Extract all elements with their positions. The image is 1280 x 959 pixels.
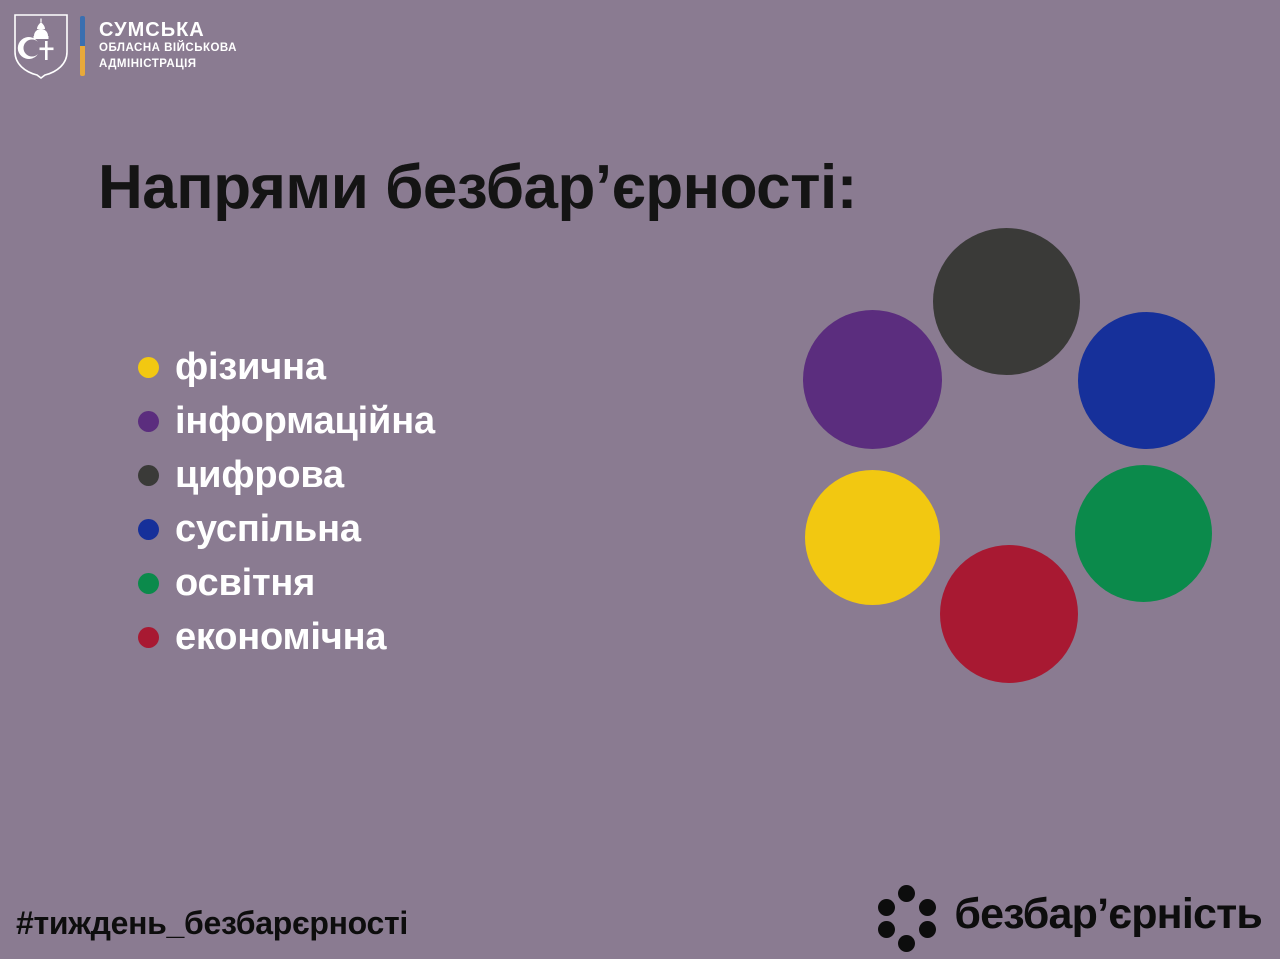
- campaign-hashtag: #тиждень_безбарєрності: [16, 905, 408, 942]
- brand-dot-icon-5: [878, 899, 895, 916]
- brand-dot-icon-2: [919, 921, 936, 938]
- directions-list: фізична інформаційна цифрова суспільна о…: [138, 340, 435, 664]
- direction-label: цифрова: [175, 454, 344, 497]
- coat-of-arms-icon: [12, 12, 70, 80]
- list-item: економічна: [138, 610, 435, 664]
- brand-dot-icon-3: [898, 935, 915, 952]
- bullet-dot-icon-4: [138, 573, 159, 594]
- bullet-dot-icon-0: [138, 357, 159, 378]
- brand-dot-icon-1: [919, 899, 936, 916]
- direction-label: суспільна: [175, 508, 361, 551]
- list-item: суспільна: [138, 502, 435, 556]
- page-title: Напрями безбар’єрності:: [98, 152, 857, 223]
- direction-label: освітня: [175, 562, 315, 605]
- brand-wordmark: безбар’єрність: [954, 890, 1262, 939]
- circle-physical: [805, 470, 940, 605]
- circle-educational: [1075, 465, 1212, 602]
- brand-dot-icon-0: [898, 885, 915, 902]
- circle-informational: [803, 310, 942, 449]
- bullet-dot-icon-2: [138, 465, 159, 486]
- list-item: інформаційна: [138, 394, 435, 448]
- direction-label: інформаційна: [175, 400, 435, 443]
- organization-name: СУМСЬКА ОБЛАСНА ВІЙСЬКОВА АДМІНІСТРАЦІЯ: [99, 20, 237, 71]
- bullet-dot-icon-3: [138, 519, 159, 540]
- flag-yellow-half: [80, 46, 85, 76]
- bullet-dot-icon-5: [138, 627, 159, 648]
- list-item: цифрова: [138, 448, 435, 502]
- list-item: освітня: [138, 556, 435, 610]
- barrier-free-circles-graphic: [795, 220, 1225, 690]
- direction-label: фізична: [175, 346, 326, 389]
- brand-dots-icon: [876, 885, 938, 943]
- slide-canvas: СУМСЬКА ОБЛАСНА ВІЙСЬКОВА АДМІНІСТРАЦІЯ …: [0, 0, 1280, 959]
- list-item: фізична: [138, 340, 435, 394]
- circle-digital: [933, 228, 1080, 375]
- circle-societal: [1078, 312, 1215, 449]
- direction-label: економічна: [175, 616, 386, 659]
- circle-economic: [940, 545, 1078, 683]
- brand-dot-icon-4: [878, 921, 895, 938]
- bullet-dot-icon-1: [138, 411, 159, 432]
- org-name-line-1: СУМСЬКА: [99, 20, 237, 41]
- ukraine-flag-bar: [80, 16, 85, 76]
- org-name-line-2: ОБЛАСНА ВІЙСЬКОВА: [99, 41, 237, 56]
- bezbarjernist-brand-logo: безбар’єрність: [876, 882, 1262, 946]
- organization-logo: СУМСЬКА ОБЛАСНА ВІЙСЬКОВА АДМІНІСТРАЦІЯ: [12, 8, 237, 84]
- flag-blue-half: [80, 16, 85, 46]
- org-name-line-3: АДМІНІСТРАЦІЯ: [99, 57, 237, 72]
